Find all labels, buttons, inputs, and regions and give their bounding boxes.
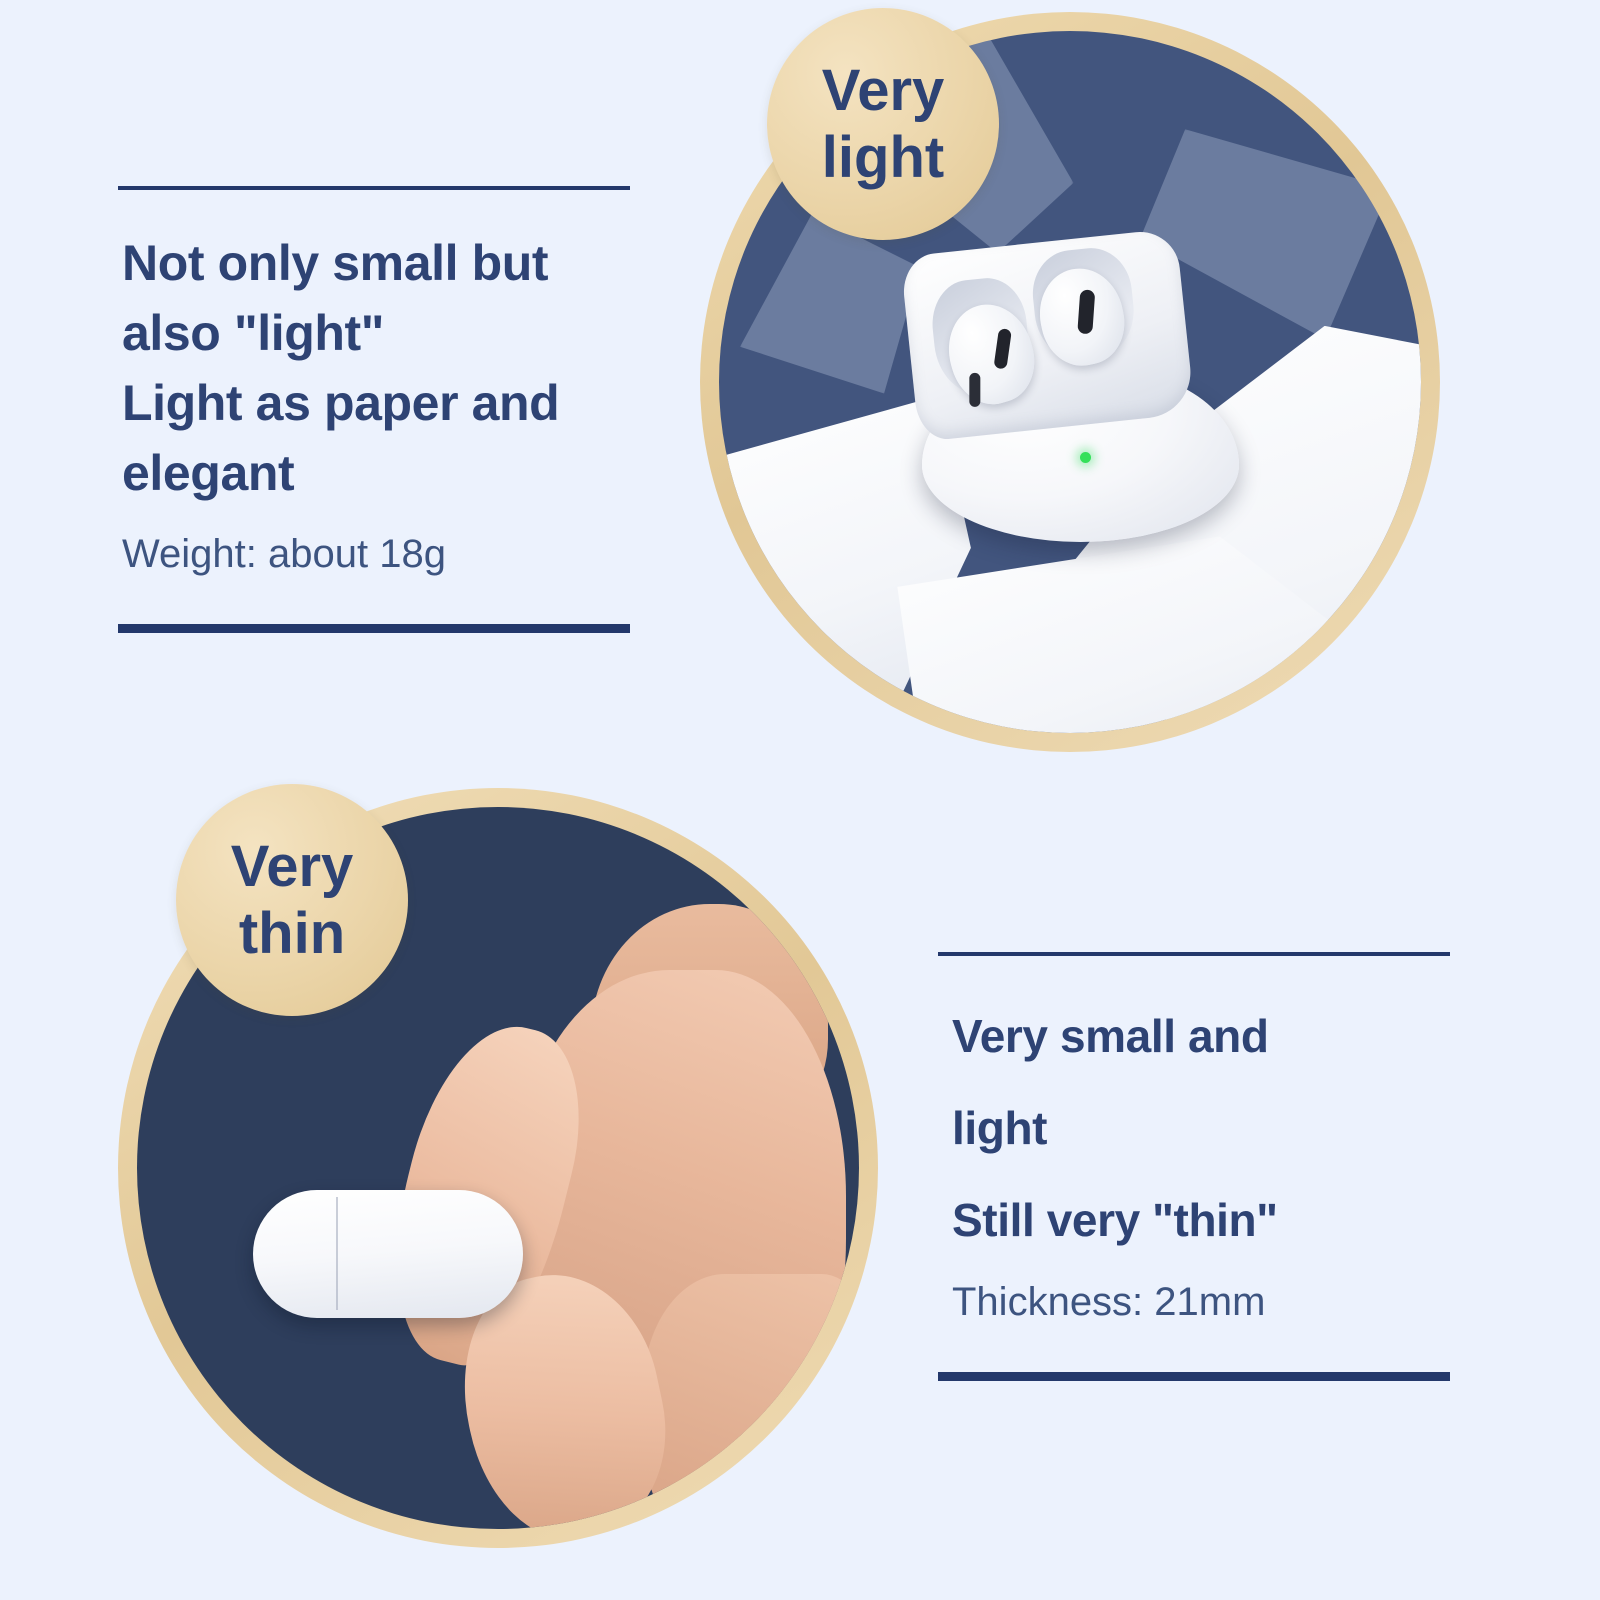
weight-headline-line-3: Light as paper and [122,368,630,438]
paper-fold-shape-b [740,214,920,394]
charging-led-indicator [1080,452,1091,463]
closed-charging-case [253,1190,523,1318]
weight-headline-line-4: elegant [122,438,630,508]
hand-wrist [643,1274,859,1529]
case-body [900,228,1195,442]
thickness-headline-line-1: Very small and [952,990,1450,1082]
thickness-spec-value: Thickness: 21mm [952,1276,1450,1328]
open-charging-case [909,242,1239,542]
thickness-headline-line-3: Still very "thin" [952,1174,1450,1266]
weight-block-top-rule [118,186,630,190]
thickness-block-top-rule [938,952,1450,956]
badge-very-light: Very light [767,8,999,240]
weight-headline: Not only small but also "light" Light as… [122,228,630,508]
thickness-block-bottom-rule [938,1372,1450,1381]
earbud-right-grille [1077,289,1095,334]
badge-very-light-line-2: light [822,124,944,191]
badge-very-thin-line-1: Very [231,833,354,900]
badge-very-light-line-1: Very [822,57,945,124]
thickness-headline-line-2: light [952,1082,1450,1174]
badge-very-thin-line-2: thin [239,900,345,967]
weight-headline-line-1: Not only small but [122,228,630,298]
thickness-headline: Very small and light Still very "thin" [952,990,1450,1266]
weight-text-block: Not only small but also "light" Light as… [118,186,630,633]
thickness-text-block: Very small and light Still very "thin" T… [938,952,1450,1381]
case-seam-line [336,1197,338,1310]
earbud-left-stem-slot [969,372,980,406]
weight-headline-line-2: also "light" [122,298,630,368]
badge-very-thin: Very thin [176,784,408,1016]
weight-spec-value: Weight: about 18g [122,528,630,580]
weight-block-bottom-rule [118,624,630,633]
product-feature-page: Not only small but also "light" Light as… [0,0,1600,1600]
